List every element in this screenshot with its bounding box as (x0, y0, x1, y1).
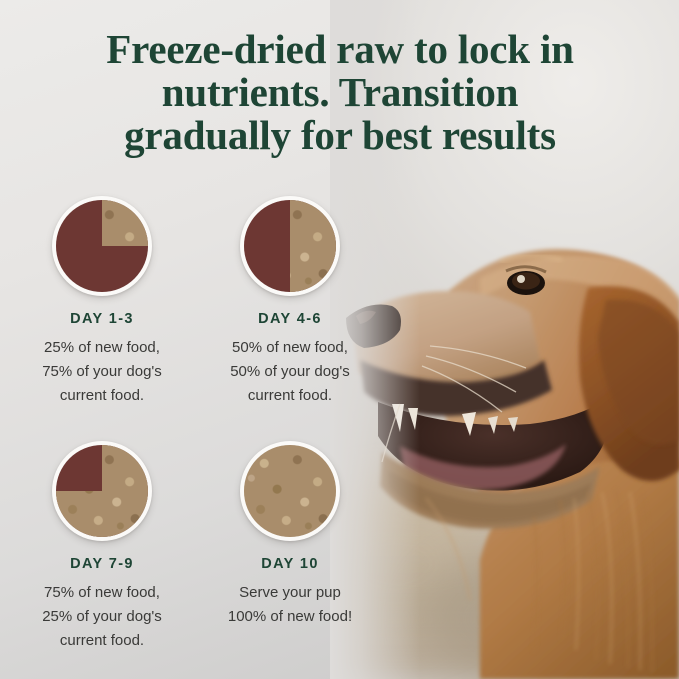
bowl-inner (56, 445, 148, 537)
step-card-day-10: DAY 10 Serve your pup 100% of new food! (200, 441, 380, 653)
transition-guide-graphic: Freeze-dried raw to lock in nutrients. T… (0, 0, 679, 679)
headline-line-2: nutrients. Transition (50, 71, 630, 114)
steps-row-1: DAY 1-3 25% of new food, 75% of your dog… (0, 196, 400, 408)
step-desc-line-1: 25% of new food, (12, 336, 192, 360)
bowl-wrap (200, 196, 380, 300)
bowl-day-4-6 (240, 196, 340, 296)
step-day-label: DAY 10 (200, 556, 380, 572)
step-desc-line-3: current food. (200, 384, 380, 408)
step-description: 25% of new food, 75% of your dog's curre… (12, 336, 192, 408)
step-day-label: DAY 4-6 (200, 311, 380, 327)
step-desc-line-1: 75% of new food, (12, 581, 192, 605)
step-desc-line-1: Serve your pup (200, 581, 380, 605)
page-title: Freeze-dried raw to lock in nutrients. T… (50, 28, 630, 157)
step-desc-line-3: current food. (12, 629, 192, 653)
headline-line-1: Freeze-dried raw to lock in (50, 28, 630, 71)
transition-steps: DAY 1-3 25% of new food, 75% of your dog… (0, 196, 400, 653)
step-desc-line-2: 25% of your dog's (12, 605, 192, 629)
bowl-inner (56, 200, 148, 292)
step-card-day-7-9: DAY 7-9 75% of new food, 25% of your dog… (12, 441, 192, 653)
step-desc-line-2: 100% of new food! (200, 605, 380, 629)
step-card-day-1-3: DAY 1-3 25% of new food, 75% of your dog… (12, 196, 192, 408)
step-desc-line-3: current food. (12, 384, 192, 408)
step-description: 50% of new food, 50% of your dog's curre… (200, 336, 380, 408)
step-desc-line-2: 50% of your dog's (200, 360, 380, 384)
headline-line-3: gradually for best results (50, 114, 630, 157)
bowl-wrap (12, 196, 192, 300)
step-day-label: DAY 1-3 (12, 311, 192, 327)
bowl-day-7-9 (52, 441, 152, 541)
step-day-label: DAY 7-9 (12, 556, 192, 572)
bowl-wrap (12, 441, 192, 545)
step-desc-line-1: 50% of new food, (200, 336, 380, 360)
new-food-kibble (244, 445, 336, 537)
steps-row-2: DAY 7-9 75% of new food, 25% of your dog… (0, 441, 400, 653)
bowl-day-1-3 (52, 196, 152, 296)
step-card-day-4-6: DAY 4-6 50% of new food, 50% of your dog… (200, 196, 380, 408)
bowl-inner (244, 445, 336, 537)
step-desc-line-2: 75% of your dog's (12, 360, 192, 384)
step-description: Serve your pup 100% of new food! (200, 581, 380, 629)
bowl-wrap (200, 441, 380, 545)
bowl-day-10 (240, 441, 340, 541)
step-description: 75% of new food, 25% of your dog's curre… (12, 581, 192, 653)
bowl-inner (244, 200, 336, 292)
